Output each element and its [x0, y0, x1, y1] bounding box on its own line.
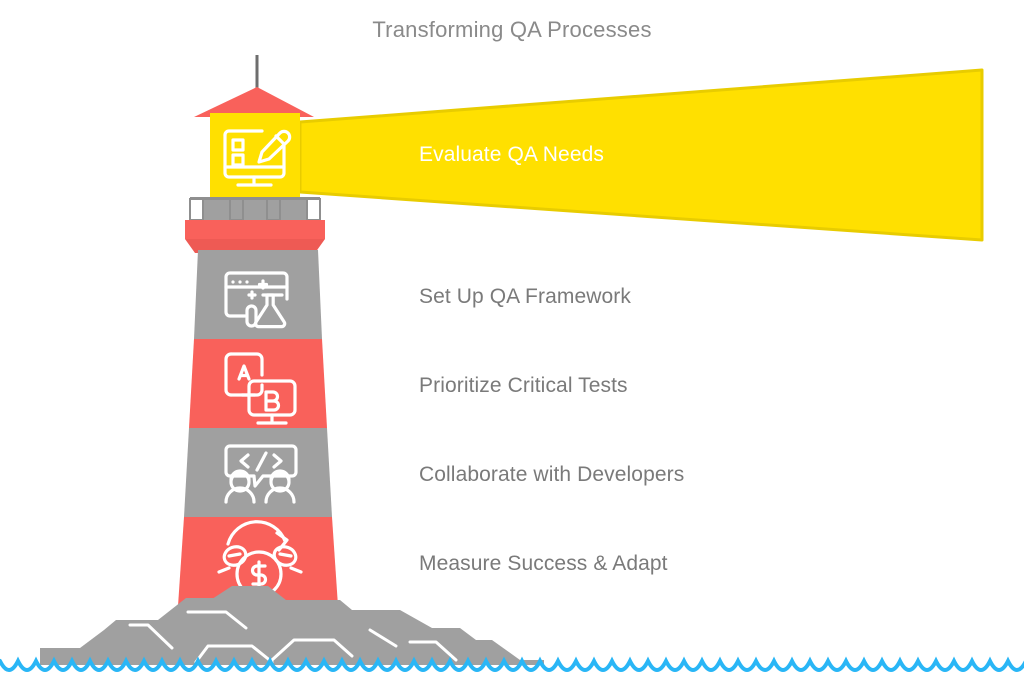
infographic-canvas: Transforming QA Processes Evaluate QA Ne…	[0, 0, 1024, 690]
light-beam	[300, 70, 982, 240]
lighthouse-illustration	[0, 0, 1024, 690]
step-label-prioritize-critical-tests: Prioritize Critical Tests	[419, 374, 628, 398]
beam-label-evaluate-qa-needs: Evaluate QA Needs	[419, 143, 604, 167]
lighthouse-collar	[185, 220, 325, 253]
lantern-roof	[194, 87, 314, 117]
tower-band-1	[194, 250, 322, 339]
beam-shape	[300, 70, 982, 240]
tower-band-3	[184, 428, 332, 517]
step-label-collaborate-with-developers: Collaborate with Developers	[419, 463, 684, 487]
tower-band-2	[189, 339, 327, 428]
step-label-set-up-qa-framework: Set Up QA Framework	[419, 285, 631, 309]
page-title: Transforming QA Processes	[0, 17, 1024, 43]
gallery-railing	[190, 197, 320, 220]
step-label-measure-success-and-adapt: Measure Success & Adapt	[419, 552, 668, 576]
